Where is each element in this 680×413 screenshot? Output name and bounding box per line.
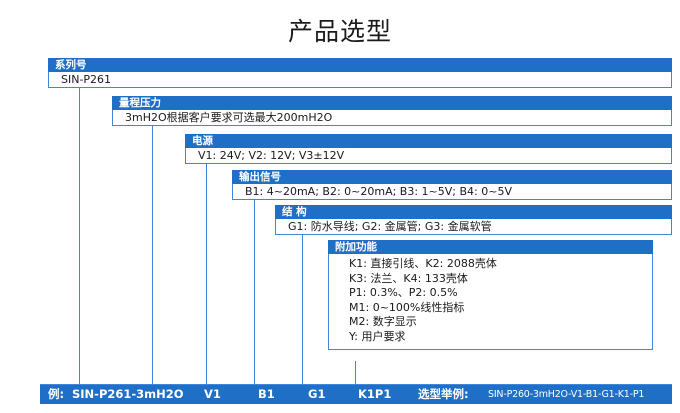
summary-selection-value: SIN-P260-3mH2O-V1-B1-G1-K1-P1 — [488, 385, 644, 404]
page-title: 产品选型 — [0, 12, 680, 48]
summary-bar: 例: SIN-P261-3mH2O V1 B1 G1 K1P1 选型举例: SI… — [40, 385, 672, 404]
extra-function-line-1: K1: 直接引线、K2: 2088壳体 — [349, 257, 652, 272]
extra-function-line-4: M1: 0~100%线性指标 — [349, 301, 652, 316]
connector-line-range-pressure — [152, 126, 153, 385]
connector-line-extra-function — [355, 361, 356, 385]
value-power: V1: 24V; V2: 12V; V3±12V — [185, 148, 672, 164]
connector-line-structure — [302, 235, 303, 385]
value-range-pressure: 3mH2O根据客户要求可选最大200mH2O — [112, 110, 672, 126]
summary-selection-label: 选型举例: — [418, 385, 469, 404]
extra-function-line-5: M2: 数字显示 — [349, 315, 652, 330]
header-structure: 结 构 — [275, 205, 672, 219]
header-series: 系列号 — [48, 58, 672, 72]
extra-function-line-6: Y: 用户要求 — [349, 330, 652, 345]
extra-function-line-2: K3: 法兰、K4: 133壳体 — [349, 272, 652, 287]
connector-line-series — [79, 88, 80, 385]
summary-code-structure: G1 — [308, 385, 325, 404]
summary-code-output: B1 — [258, 385, 275, 404]
header-extra-function: 附加功能 — [328, 240, 653, 254]
connector-line-output-signal — [254, 200, 255, 385]
connector-line-power — [206, 164, 207, 385]
value-structure: G1: 防水导线; G2: 金属管; G3: 金属软管 — [275, 219, 672, 235]
product-selection-diagram: 产品选型 系列号 SIN-P261 量程压力 3mH2O根据客户要求可选最大20… — [0, 0, 680, 413]
value-series: SIN-P261 — [48, 72, 672, 88]
value-extra-function: K1: 直接引线、K2: 2088壳体 K3: 法兰、K4: 133壳体 P1:… — [328, 254, 653, 350]
summary-example-label: 例: — [48, 385, 64, 404]
header-range-pressure: 量程压力 — [112, 96, 672, 110]
summary-code-extra: K1P1 — [358, 385, 391, 404]
header-output-signal: 输出信号 — [232, 170, 672, 184]
value-output-signal: B1: 4~20mA; B2: 0~20mA; B3: 1~5V; B4: 0~… — [232, 184, 672, 200]
summary-code-series: SIN-P261-3mH2O — [72, 385, 184, 404]
summary-code-power: V1 — [204, 385, 221, 404]
extra-function-line-3: P1: 0.3%、P2: 0.5% — [349, 286, 652, 301]
header-power: 电源 — [185, 134, 672, 148]
